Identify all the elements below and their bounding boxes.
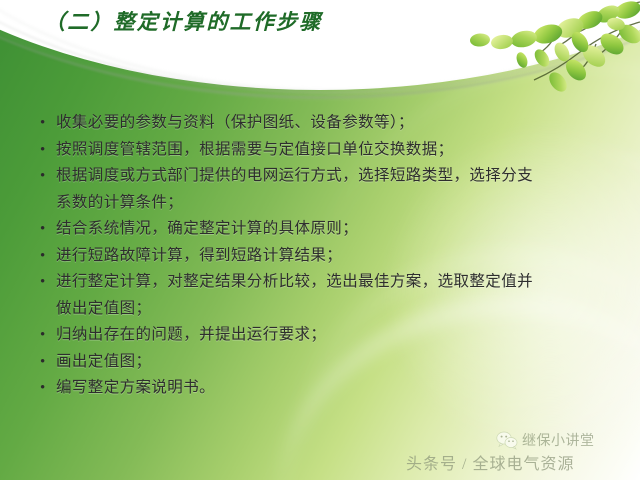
bullet-item-continuation: 做出定值图； [34,296,614,323]
bullet-item: •根据调度或方式部门提供的电网运行方式，选择短路类型，选择分支 [34,163,614,190]
bullet-text: 画出定值图； [56,349,151,376]
leaves-decoration-icon [462,0,640,96]
bullet-marker-icon: • [34,216,56,243]
page-title: （二）整定计算的工作步骤 [44,6,322,36]
bullet-item: •结合系统情况，确定整定计算的具体原则； [34,216,614,243]
bullet-text: 编写整定方案说明书。 [56,375,215,402]
bullet-marker-icon: • [34,322,56,349]
bullet-marker-icon: • [34,163,56,190]
bullet-item: •按照调度管辖范围，根据需要与定值接口单位交换数据； [34,137,614,164]
bullet-item: •进行整定计算，对整定结果分析比较，选出最佳方案，选取整定值并 [34,269,614,296]
bullet-text: 系数的计算条件； [56,190,183,217]
bullet-marker-icon: • [34,243,56,270]
bullet-item: •进行短路故障计算，得到短路计算结果； [34,243,614,270]
bullet-text: 归纳出存在的问题，并提出运行要求； [56,322,326,349]
bullet-text: 做出定值图； [56,296,151,323]
bullet-text: 进行短路故障计算，得到短路计算结果； [56,243,342,270]
bullet-marker-icon: • [34,137,56,164]
bullet-marker-icon: • [34,349,56,376]
bullet-text: 根据调度或方式部门提供的电网运行方式，选择短路类型，选择分支 [56,163,533,190]
bullet-marker-icon: • [34,110,56,137]
wechat-icon [496,431,518,450]
bullet-marker-icon: • [34,375,56,402]
bullet-text: 按照调度管辖范围，根据需要与定值接口单位交换数据； [56,137,454,164]
bullet-item: •收集必要的参数与资料（保护图纸、设备参数等）； [34,110,614,137]
wechat-watermark-label: 继保小讲堂 [522,430,595,450]
bullet-text: 结合系统情况，确定整定计算的具体原则； [56,216,358,243]
bullet-list: •收集必要的参数与资料（保护图纸、设备参数等）；•按照调度管辖范围，根据需要与定… [34,110,614,402]
bullet-item-continuation: 系数的计算条件； [34,190,614,217]
bullet-item: •归纳出存在的问题，并提出运行要求； [34,322,614,349]
slide-canvas: （二）整定计算的工作步骤 •收集必要的参数与资料（保护图纸、设备参数等）；•按照… [0,0,640,480]
bullet-text: 收集必要的参数与资料（保护图纸、设备参数等）； [56,110,414,137]
bullet-text: 进行整定计算，对整定结果分析比较，选出最佳方案，选取整定值并 [56,269,533,296]
bullet-item: •画出定值图； [34,349,614,376]
bullet-item: •编写整定方案说明书。 [34,375,614,402]
toutiao-watermark-label: 头条号 / 全球电气资源 [406,450,574,474]
bullet-marker-icon: • [34,269,56,296]
wechat-watermark: 继保小讲堂 [496,430,595,450]
